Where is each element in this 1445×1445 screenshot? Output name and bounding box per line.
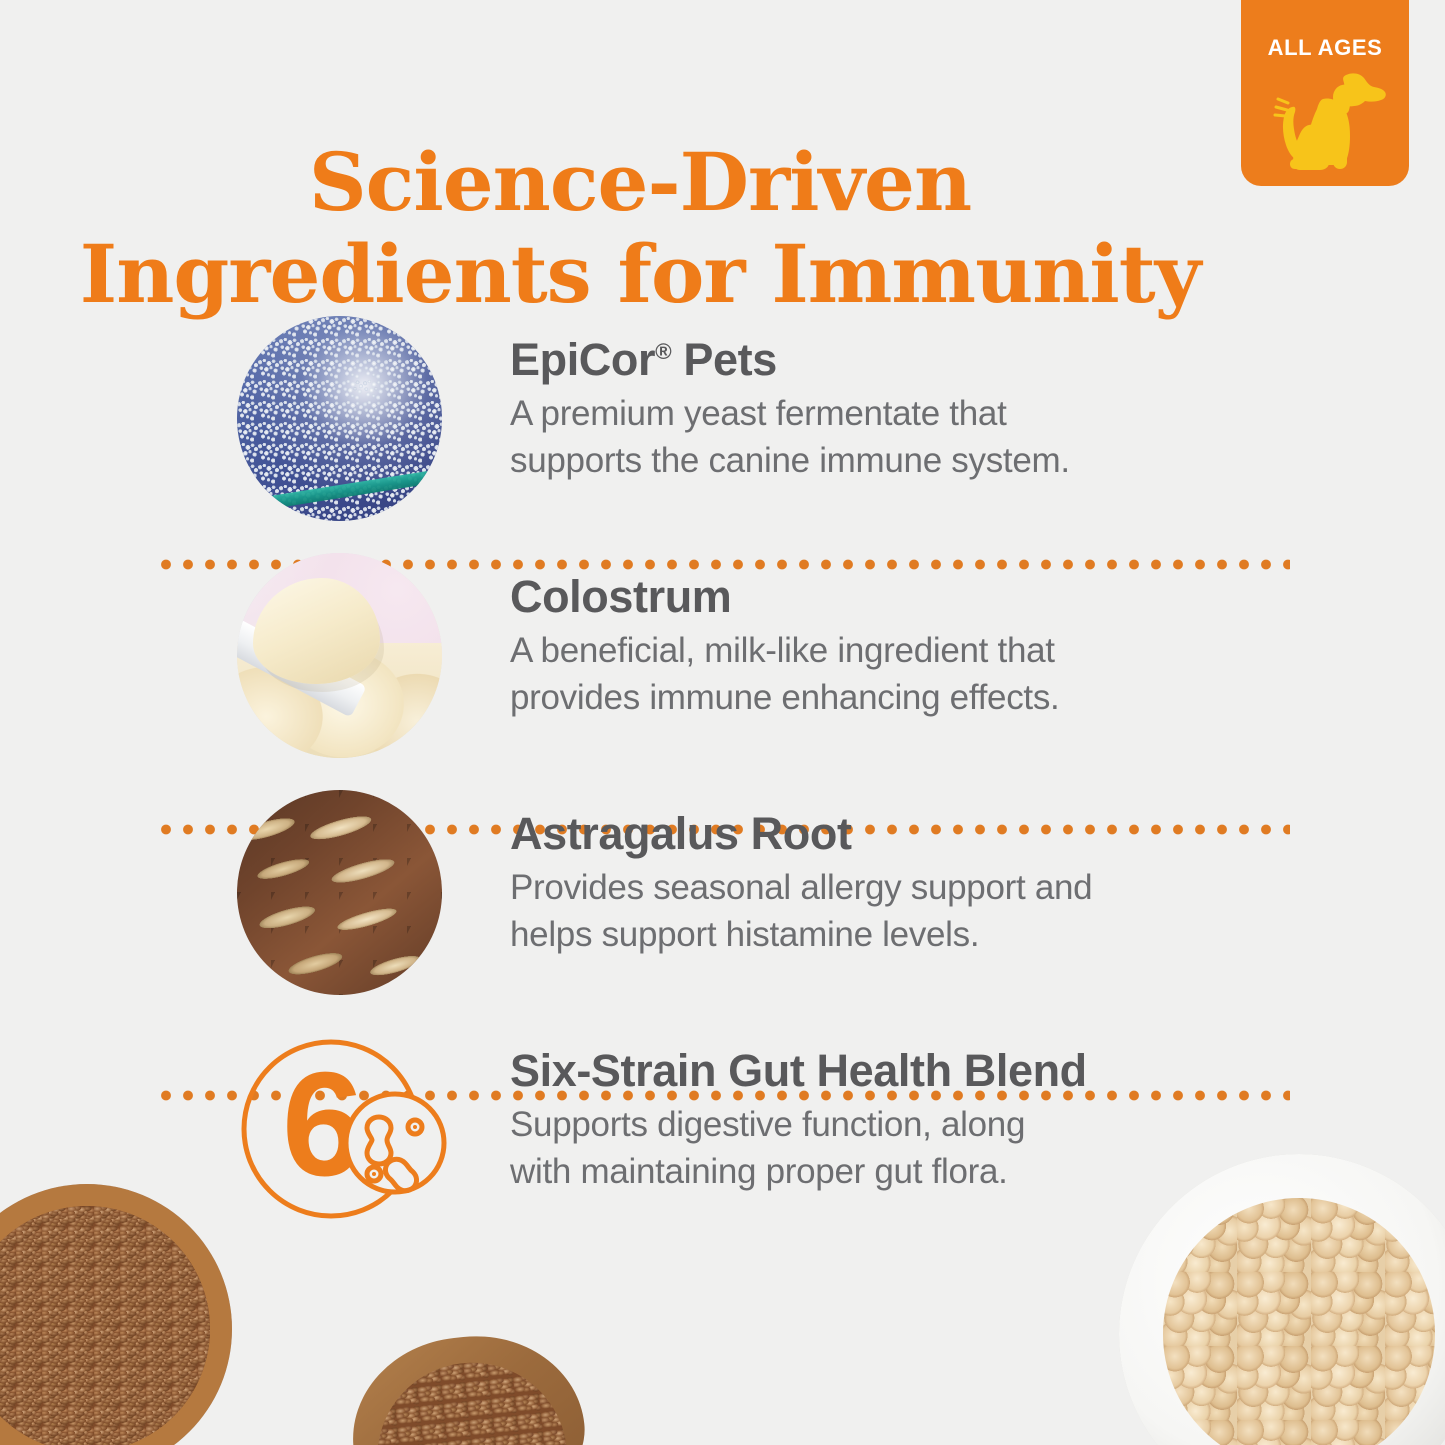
ingredient-desc-gut-blend-line2: with maintaining proper gut flora. — [510, 1149, 1087, 1196]
ingredient-desc-gut-blend: Supports digestive function, along with … — [510, 1102, 1087, 1195]
colostrum-powder-scoop-photo — [237, 553, 442, 758]
ingredient-text-astragalus: Astragalus Root Provides seasonal allerg… — [442, 784, 1092, 958]
ingredient-title-epicor-main: EpiCor — [510, 334, 655, 385]
ingredient-title-astragalus: Astragalus Root — [510, 810, 1092, 857]
page-title-line2: Ingredients for Immunity — [0, 228, 1280, 321]
ingredient-desc-astragalus-line2: helps support histamine levels. — [510, 912, 1092, 959]
ingredient-title-colostrum: Colostrum — [510, 573, 1059, 620]
sitting-dog-icon — [1262, 67, 1388, 175]
page-title-line1: Science-Driven — [0, 136, 1280, 229]
ingredient-row-colostrum: Colostrum A beneficial, milk-like ingred… — [0, 547, 1445, 784]
ingredient-list: EpiCor® Pets A premium yeast fermentate … — [0, 310, 1445, 1258]
registered-trademark-icon: ® — [655, 339, 671, 364]
flax-seed-spoon-photo — [343, 1325, 593, 1445]
ingredient-text-epicor: EpiCor® Pets A premium yeast fermentate … — [442, 310, 1070, 484]
ingredient-text-colostrum: Colostrum A beneficial, milk-like ingred… — [442, 547, 1059, 721]
ingredient-title-gut-blend: Six-Strain Gut Health Blend — [510, 1047, 1087, 1094]
petri-dish-yeast-photo — [237, 316, 442, 521]
ingredient-text-gut-blend: Six-Strain Gut Health Blend Supports dig… — [442, 1021, 1087, 1195]
page-title: Science-Driven Ingredients for Immunity — [0, 136, 1280, 322]
ingredient-desc-astragalus-line1: Provides seasonal allergy support and — [510, 865, 1092, 912]
ingredient-desc-epicor: A premium yeast fermentate that supports… — [510, 391, 1070, 484]
ingredient-desc-colostrum: A beneficial, milk-like ingredient that … — [510, 628, 1059, 721]
ingredient-row-astragalus: Astragalus Root Provides seasonal allerg… — [0, 784, 1445, 1021]
ingredient-desc-epicor-line1: A premium yeast fermentate that — [510, 391, 1070, 438]
ingredient-desc-colostrum-line2: provides immune enhancing effects. — [510, 675, 1059, 722]
ingredient-title-epicor-suffix: Pets — [671, 334, 777, 385]
infographic-canvas: ALL AGES — [0, 0, 1445, 1445]
ingredient-row-epicor: EpiCor® Pets A premium yeast fermentate … — [0, 310, 1445, 547]
ingredient-desc-colostrum-line1: A beneficial, milk-like ingredient that — [510, 628, 1059, 675]
ingredient-desc-gut-blend-line1: Supports digestive function, along — [510, 1102, 1087, 1149]
ingredient-desc-epicor-line2: supports the canine immune system. — [510, 438, 1070, 485]
ingredient-title-epicor: EpiCor® Pets — [510, 336, 1070, 383]
number-six-probiotic-icon: 6 — [237, 1027, 442, 1232]
ingredient-desc-astragalus: Provides seasonal allergy support and he… — [510, 865, 1092, 958]
all-ages-badge-label: ALL AGES — [1268, 37, 1383, 59]
astragalus-root-slices-photo — [237, 790, 442, 995]
